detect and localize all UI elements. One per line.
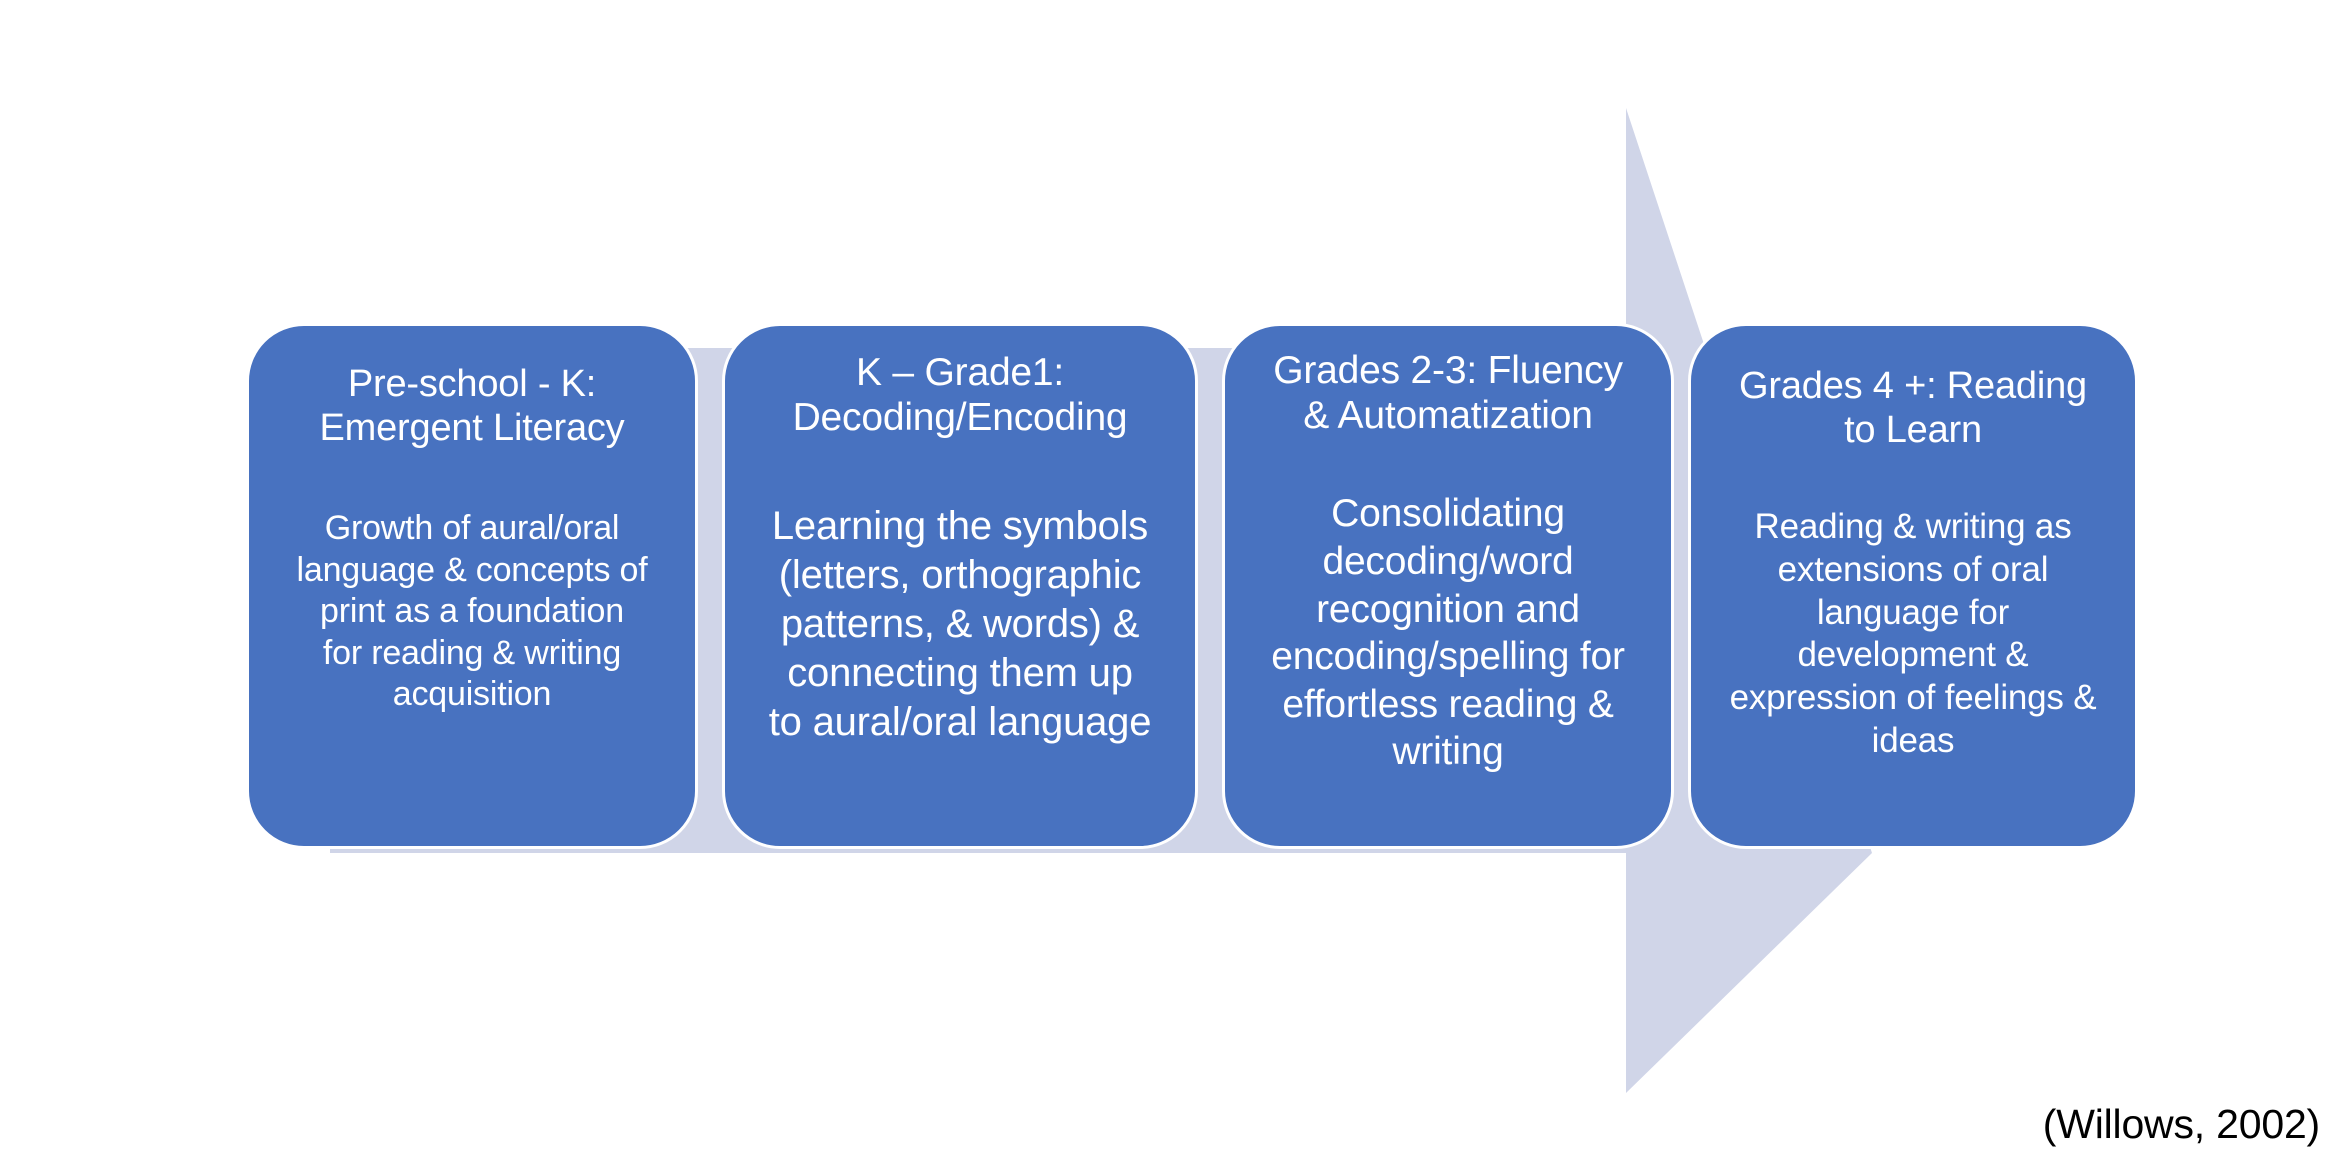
stage-title: Grades 4 +: Reading to Learn [1709, 364, 2117, 452]
stage-title: Grades 2-3: Fluency & Automatization [1243, 348, 1653, 438]
citation-text: (Willows, 2002) [2043, 1101, 2320, 1148]
stage-title: Pre-school - K: Emergent Literacy [267, 362, 677, 450]
stage-body: Consolidating decoding/word recognition … [1243, 490, 1653, 775]
stage-box-k-grade1[interactable]: K – Grade1: Decoding/Encoding Learning t… [722, 323, 1198, 849]
stage-body: Learning the symbols (letters, orthograp… [743, 502, 1177, 746]
stage-box-grades-2-3[interactable]: Grades 2-3: Fluency & Automatization Con… [1222, 323, 1674, 849]
slide-canvas: Pre-school - K: Emergent Literacy Growth… [0, 0, 2346, 1166]
stage-body: Reading & writing as extensions of oral … [1709, 506, 2117, 762]
stage-body: Growth of aural/oral language & concepts… [267, 508, 677, 715]
stage-box-pre-school-k[interactable]: Pre-school - K: Emergent Literacy Growth… [246, 323, 698, 849]
stage-box-grades-4-plus[interactable]: Grades 4 +: Reading to Learn Reading & w… [1688, 323, 2138, 849]
stage-title: K – Grade1: Decoding/Encoding [743, 350, 1177, 440]
